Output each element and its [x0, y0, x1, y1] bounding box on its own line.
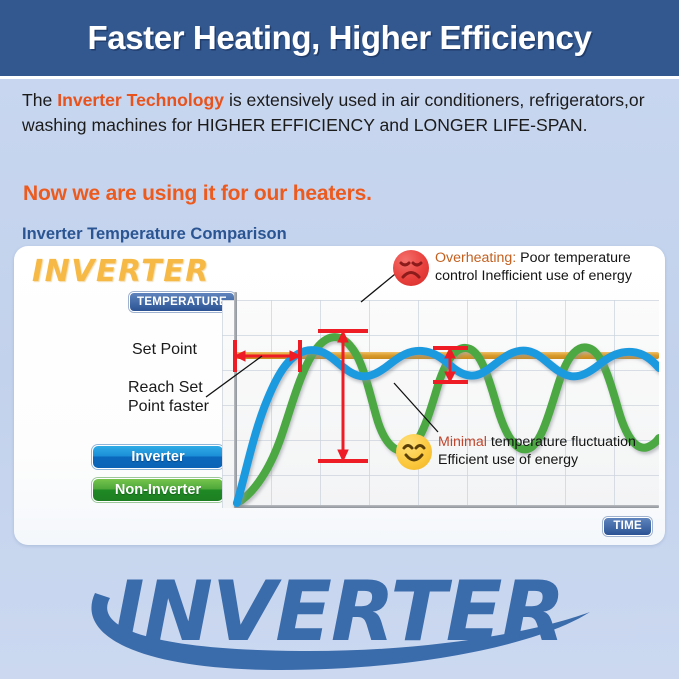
intro-paragraph: The Inverter Technology is extensively u…: [22, 88, 662, 138]
reach-set-point-label: Reach Set Point faster: [128, 378, 209, 416]
y-axis-badge: TEMPERATURE: [129, 292, 235, 312]
set-point-label: Set Point: [132, 341, 197, 359]
overheating-line2: control Inefficient use of energy: [435, 268, 632, 284]
chart-card: INVERTER TEMPERATURE Set Point Reach Set…: [14, 246, 665, 545]
reach-line1: Reach Set: [128, 379, 203, 396]
plot-area: [222, 300, 659, 508]
reach-line2: Point faster: [128, 398, 209, 415]
chart-legend: Inverter Non-Inverter: [92, 445, 224, 511]
annotation-minimal-text: Minimal temperature fluctuation Efficien…: [438, 434, 636, 469]
annotation-overheating-text: Overheating: Poor temperature control In…: [435, 250, 632, 285]
infographic-page: Faster Heating, Higher Efficiency The In…: [0, 0, 679, 679]
annotation-overheating: Overheating: Poor temperature control In…: [393, 250, 632, 286]
minimal-line2: Efficient use of energy: [438, 452, 578, 468]
sad-face-icon: [393, 250, 429, 286]
inverter-technology-highlight: Inverter Technology: [57, 90, 224, 110]
legend-item-inverter[interactable]: Inverter: [92, 445, 224, 469]
curves-svg: [222, 300, 659, 508]
subheadline: Now we are using it for our heaters.: [23, 182, 372, 206]
footer-inverter-logo: INVERTER: [0, 548, 679, 679]
legend-item-non-inverter[interactable]: Non-Inverter: [92, 478, 224, 502]
minimal-line1-rest: temperature fluctuation: [487, 434, 636, 450]
annotation-minimal: Minimal temperature fluctuation Efficien…: [396, 434, 636, 470]
paragraph-pre: The: [22, 90, 57, 110]
section-label: Inverter Temperature Comparison: [22, 225, 287, 244]
reach-time-marker: [235, 340, 300, 372]
minimal-keyword: Minimal: [438, 434, 487, 450]
page-title: Faster Heating, Higher Efficiency: [88, 19, 592, 57]
overheating-line1-rest: Poor temperature: [516, 250, 630, 266]
inverter-watermark: INVERTER: [32, 254, 210, 289]
footer-logo-svg: INVERTER: [0, 548, 679, 679]
overheating-keyword: Overheating:: [435, 250, 516, 266]
footer-logo-text: INVERTER: [114, 563, 565, 660]
happy-face-icon: [396, 434, 432, 470]
x-axis-badge: TIME: [603, 517, 652, 537]
header-banner: Faster Heating, Higher Efficiency: [0, 0, 679, 79]
